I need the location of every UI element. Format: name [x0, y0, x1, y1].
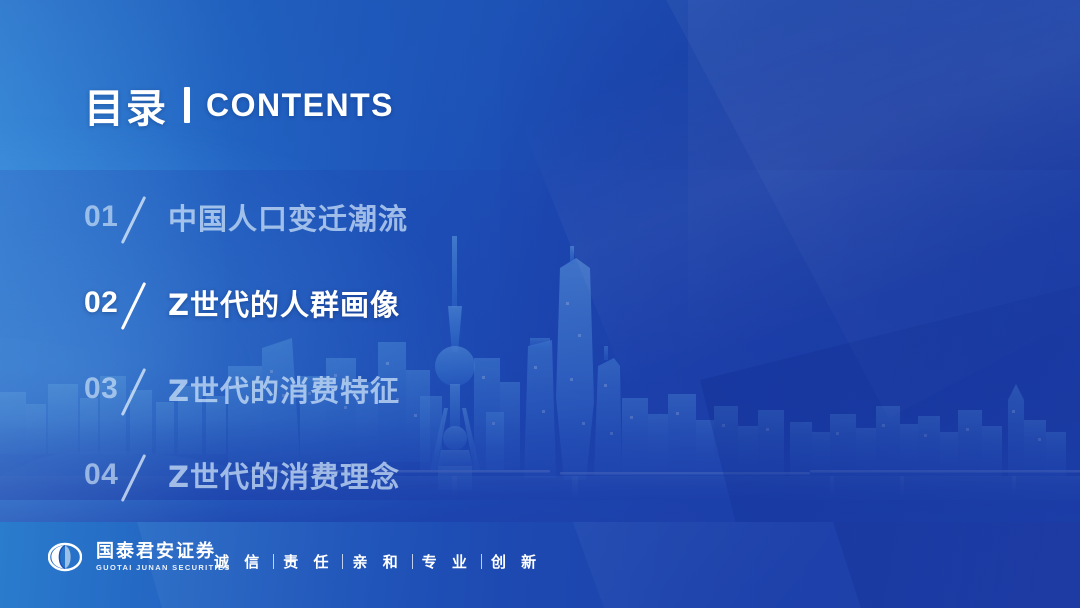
tagline-separator [481, 554, 482, 569]
contents-label-01: 中国人口变迁潮流 [168, 196, 408, 238]
contents-list: 01 中国人口变迁潮流 02 Z世代的人群画像 03 Z世代的消费特征 04 Z… [84, 186, 604, 530]
brand-logo: 国泰君安证券 GUOTAI JUNAN SECURITIES [48, 542, 231, 572]
page-title: 目录 CONTENTS [84, 76, 394, 134]
guotai-junan-circle-mark-icon [48, 542, 82, 572]
contents-label-03: Z世代的消费特征 [168, 368, 400, 410]
tagline-word-1: 诚 信 [212, 551, 266, 572]
brand-name-en: GUOTAI JUNAN SECURITIES [96, 564, 231, 572]
contents-label-04: Z世代的消费理念 [168, 454, 400, 496]
brand-tagline: 诚 信 责 任 亲 和 专 业 创 新 [212, 551, 543, 572]
contents-item-03[interactable]: 03 Z世代的消费特征 [84, 358, 604, 420]
brand-name-cn: 国泰君安证券 [96, 543, 231, 562]
contents-slide: 目录 CONTENTS 01 中国人口变迁潮流 02 Z世代的人群画像 03 Z… [0, 0, 1080, 608]
page-title-cn: 目录 [84, 76, 168, 134]
title-separator-bar [184, 87, 190, 123]
tagline-word-5: 创 新 [489, 551, 543, 572]
tagline-separator [273, 554, 274, 569]
contents-label-02: Z世代的人群画像 [168, 282, 400, 324]
tagline-word-2: 责 任 [281, 551, 335, 572]
tagline-word-3: 亲 和 [350, 551, 404, 572]
tagline-separator [342, 554, 343, 569]
contents-item-04[interactable]: 04 Z世代的消费理念 [84, 444, 604, 506]
tagline-word-4: 专 业 [420, 551, 474, 572]
tagline-separator [412, 554, 413, 569]
footer-facet-c [820, 522, 1080, 608]
page-title-en: CONTENTS [206, 87, 394, 124]
contents-item-02[interactable]: 02 Z世代的人群画像 [84, 272, 604, 334]
brand-name-block: 国泰君安证券 GUOTAI JUNAN SECURITIES [96, 543, 231, 572]
contents-item-01[interactable]: 01 中国人口变迁潮流 [84, 186, 604, 248]
